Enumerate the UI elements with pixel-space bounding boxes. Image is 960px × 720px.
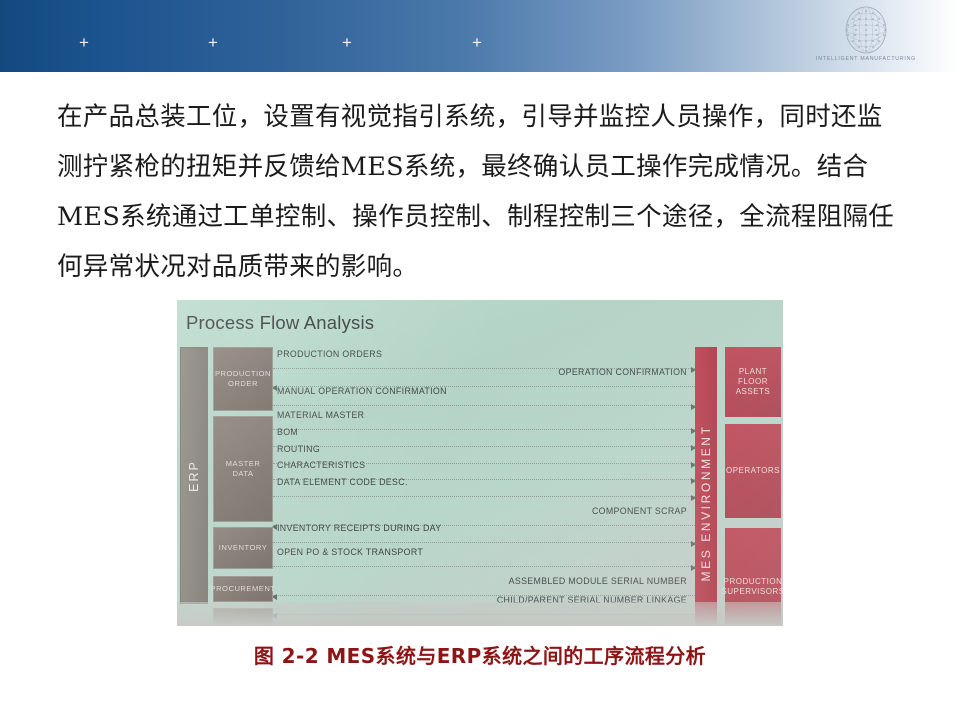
flow-row-label: PRODUCTION ORDERS <box>277 349 382 359</box>
erp-block: PRODUCTION ORDER <box>213 347 273 411</box>
mes-axis-label: MES ENVIRONMENT <box>699 424 713 581</box>
flow-row-label: INVENTORY RECEIPTS DURING DAY <box>277 523 441 533</box>
header-plus-icon: + <box>76 35 92 51</box>
erp-block: MASTER DATA <box>213 416 273 522</box>
flow-row-label: COMPONENT SCRAP <box>592 506 687 516</box>
diagram-title: Process Flow Analysis <box>186 312 374 334</box>
flow-row: OPERATION CONFIRMATION <box>273 368 695 388</box>
header-plus-icon: + <box>339 35 355 51</box>
mes-block: OPERATORS <box>725 424 781 518</box>
flow-row-line <box>273 566 695 567</box>
globe-sphere-icon <box>839 5 893 55</box>
flow-row-label: BOM <box>277 427 298 437</box>
flow-row-label: OPEN PO & STOCK TRANSPORT <box>277 547 423 557</box>
figure-photo: Process Flow Analysis ERP PRODUCTION ORD… <box>177 300 783 626</box>
mes-block: PLANT FLOOR ASSETS <box>725 347 781 417</box>
header-band: ++++ <box>0 0 960 72</box>
figure-caption: 图 2-2 MES系统与ERP系统之间的工序流程分析 <box>0 640 960 669</box>
erp-block-label: PROCUREMENT <box>211 584 276 594</box>
mes-block-label: PRODUCTION SUPERVISORS <box>721 577 783 597</box>
flow-row: MANUAL OPERATION CONFIRMATION <box>273 387 695 407</box>
flow-row: DATA ELEMENT CODE DESC. <box>273 478 695 498</box>
flow-row-label: MATERIAL MASTER <box>277 410 364 420</box>
flow-row-label: OPERATION CONFIRMATION <box>558 367 687 377</box>
flow-row-line <box>273 405 695 406</box>
flow-row-label: ROUTING <box>277 444 320 454</box>
flow-row-label: DATA ELEMENT CODE DESC. <box>277 477 408 487</box>
mes-block-label: OPERATORS <box>726 466 780 476</box>
body-paragraph: 在产品总装工位，设置有视觉指引系统，引导并监控人员操作，同时还监测拧紧枪的扭矩并… <box>57 92 907 292</box>
erp-block-label: MASTER DATA <box>214 459 272 479</box>
flow-row-line <box>273 542 695 543</box>
flow-row: OPEN PO & STOCK TRANSPORT <box>273 548 695 568</box>
flow-row: ASSEMBLED MODULE SERIAL NUMBER <box>273 577 695 597</box>
flow-row: INVENTORY RECEIPTS DURING DAY <box>273 524 695 544</box>
brand-logo-text: INTELLIGENT MANUFACTURING <box>806 56 926 62</box>
flow-row-label: CHARACTERISTICS <box>277 460 365 470</box>
mes-axis-bar: MES ENVIRONMENT <box>695 347 717 626</box>
header-plus-icon: + <box>205 35 221 51</box>
flow-row-label: ASSEMBLED MODULE SERIAL NUMBER <box>509 576 687 586</box>
erp-axis-label: ERP <box>187 460 201 492</box>
erp-block: PROCUREMENT <box>213 576 273 602</box>
erp-block-label: PRODUCTION ORDER <box>214 369 272 389</box>
header-plus-icon: + <box>469 35 485 51</box>
brand-logo: INTELLIGENT MANUFACTURING <box>806 5 926 69</box>
erp-block-label: INVENTORY <box>219 543 268 553</box>
flow-row-label: MANUAL OPERATION CONFIRMATION <box>277 386 447 396</box>
erp-axis-bar: ERP <box>180 347 208 604</box>
flow-row-line <box>273 496 695 497</box>
erp-block: INVENTORY <box>213 527 273 569</box>
photo-bottom-strip <box>177 602 783 626</box>
mes-block-label: PLANT FLOOR ASSETS <box>725 367 781 397</box>
